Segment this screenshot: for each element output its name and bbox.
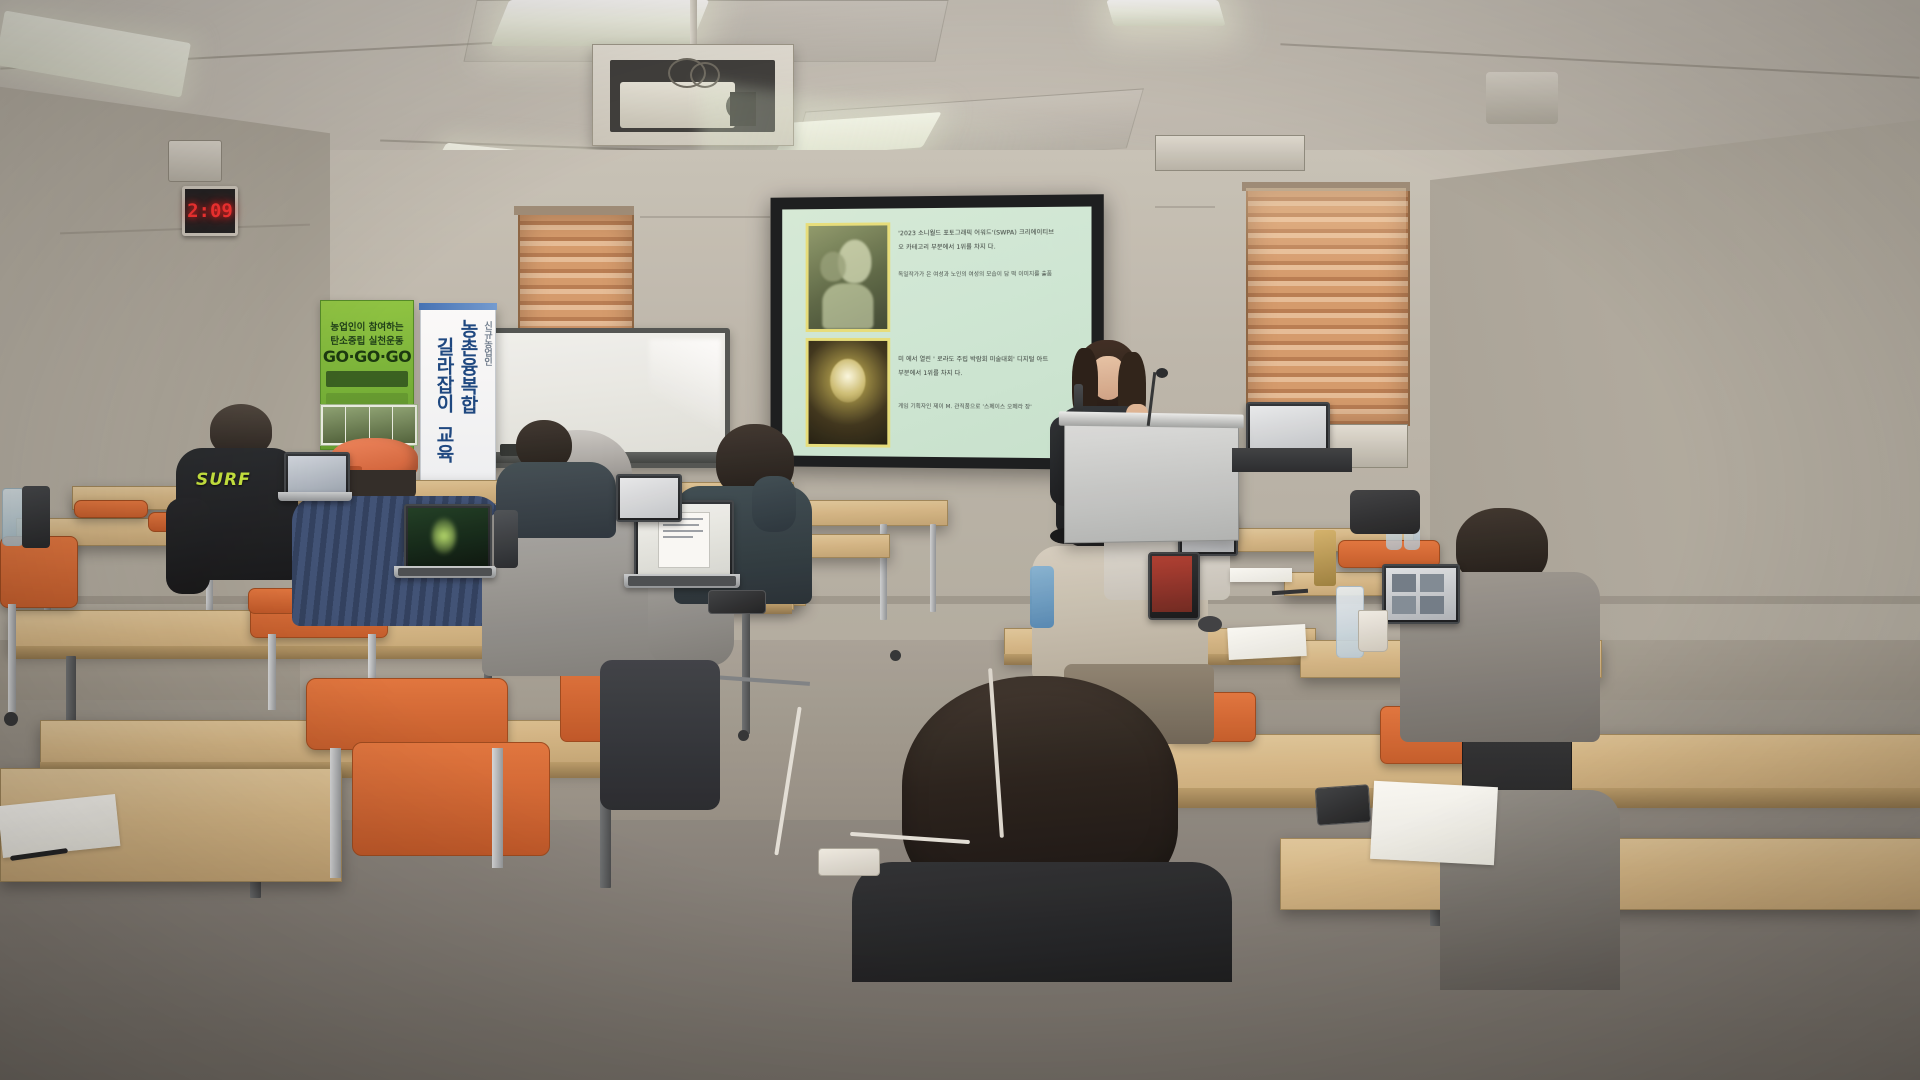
presentation-slide: '2023 소니월드 포토그래픽 어워드'(SWPA) 크리에이티브 오 카테고… [782,206,1091,458]
water-bottle-right-1[interactable] [1030,566,1054,628]
laptop-center-keyboard[interactable] [628,576,736,586]
banner-main-text-3: 교육 [434,425,453,463]
floor-power-strip[interactable] [818,848,880,876]
slide-line-6: 게임 기획자인 제이 M. 관직품으로 '스페이스 오페라 장' [898,404,1032,412]
attendee-gray-hair-legs [600,660,720,810]
bag-on-floor [1350,490,1420,534]
podium-microphone [1156,368,1168,378]
poster-slogan: GO·GO·GO [321,347,413,366]
chair-center-front[interactable] [306,678,508,750]
ceiling-light-2 [1106,0,1225,26]
ceiling-light-1 [491,0,710,46]
projector-side-panel [730,92,756,126]
laptop-orange-cap[interactable] [404,504,492,570]
coffee-cup-right[interactable] [1358,610,1388,652]
laptop-far-right[interactable] [1382,564,1460,624]
banner-main-text-1: 농촌융복합 [458,319,477,414]
smartphone-center-desk[interactable] [708,590,766,614]
laptop-on-podium[interactable] [1246,402,1330,454]
attendee-teal-arm [752,476,796,532]
chair-center-front-back[interactable] [352,742,550,856]
ceiling-vent-right [1155,135,1305,171]
laptop-back-left-base[interactable] [278,492,352,501]
whiteboard-glare [649,339,721,457]
slide-line-1: '2023 소니월드 포토그래픽 어워드'(SWPA) 크리에이티브 [898,229,1054,239]
tumbler-center[interactable] [494,510,518,568]
smartphone-on-desk[interactable] [1315,784,1372,826]
water-bottle-left[interactable] [2,488,24,546]
poster-line-2: 탄소중립 실천운동 [321,333,413,347]
podium-desk-surface [1232,448,1352,472]
poster-line-1: 농업인이 참여하는 [321,319,413,333]
laptop-orange-cap-base[interactable] [394,566,496,578]
tumbler-left[interactable] [22,486,50,548]
classroom-photo-scene: 2:09 '2023 소니월드 포토그래픽 어워드'(SWPA) 크리에이티브 … [0,0,1920,1080]
slide-image-space-opera [806,338,891,448]
digital-wall-clock: 2:09 [182,186,238,236]
program-roll-up-banner: 신규농업인 농촌융복합 길라잡이 교육 [420,306,496,508]
attendee-foreground-shoulder [852,862,1232,982]
mouse-right[interactable] [1198,616,1222,632]
projector-mount-rod [690,0,697,48]
attendee-surf-arm [166,498,210,594]
chair-back-left[interactable] [74,500,148,518]
paper-bottom-right[interactable] [1370,781,1498,865]
wall-speaker [168,140,222,182]
projector [620,82,735,128]
lectern-podium [1064,419,1239,544]
podium-top-surface [1059,411,1244,428]
banner-small-text: 신규농업인 [482,321,491,366]
tablet-screen-content [1152,556,1192,612]
notebook-open[interactable] [1227,624,1307,660]
slide-image-portrait [806,222,891,332]
laptop-center-base[interactable] [624,574,740,588]
slide-line-2: 오 카테고리 부분에서 1위를 차지 다. [898,244,995,253]
laptop-keyboard[interactable] [398,568,492,576]
wall-vent-corner [1486,72,1558,124]
tumbler-right[interactable] [1314,530,1336,586]
laptop-row2-right[interactable] [616,474,682,522]
slide-line-4: 미 에서 열린 ' 로라도 주립 박람회 미술대회' 디지털 아트 [898,356,1048,365]
laptop-back-left[interactable] [284,452,350,496]
banner-top-rail [419,303,497,310]
paper-stack-podium[interactable] [1230,568,1292,582]
banner-main-text-2: 길라잡이 [434,337,453,413]
slide-line-5: 부분에서 1위를 차지 다. [898,370,962,379]
poster-photo-4 [393,407,415,443]
desk-row2-right [800,500,948,526]
clock-time-display: 2:09 [187,200,233,222]
poster-photo-1 [323,407,345,443]
slide-line-3: 독일작가가 은 여성과 노인의 여성의 모습이 담 떡 이미지를 출품 [898,271,1052,279]
surf-jacket-logo: SURF [196,470,262,488]
